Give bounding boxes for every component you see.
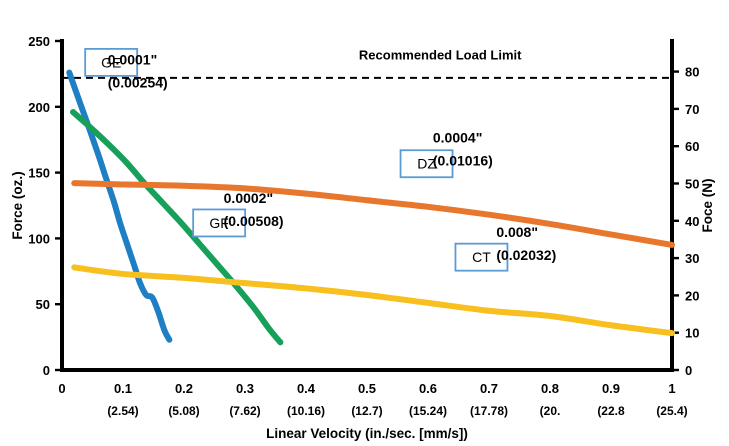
- recommended-load-limit-label: Recommended Load Limit: [359, 47, 522, 62]
- x-axis-tick-label: 0: [58, 381, 65, 396]
- x-axis-tick-sublabel: (17.78): [470, 404, 508, 418]
- y2-axis-tick-label: 20: [685, 288, 699, 303]
- x-axis-tick-label: 0.5: [358, 381, 376, 396]
- x-axis-tick-label: 0.9: [602, 381, 620, 396]
- x-axis-tick-label: 0.2: [175, 381, 193, 396]
- y2-axis-tick-label: 70: [685, 102, 699, 117]
- y-axis-tick-label: 0: [43, 363, 50, 378]
- series-thickness-in-dz: 0.0004": [433, 129, 482, 145]
- chart-figure: 0501001502002500102030405060708000.1(2.5…: [0, 0, 729, 446]
- series-thickness-in-ge: 0.0001": [108, 52, 157, 68]
- x-axis-tick-sublabel: (22.8: [597, 404, 625, 418]
- x-axis-tick-sublabel: (20.: [540, 404, 561, 418]
- series-thickness-in-gf: 0.0002": [224, 190, 273, 206]
- x-axis-tick-label: 0.7: [480, 381, 498, 396]
- y2-axis-tick-label: 0: [685, 363, 692, 378]
- x-axis-tick-sublabel: (2.54): [107, 404, 138, 418]
- x-axis-tick-sublabel: (15.24): [409, 404, 447, 418]
- series-thickness-mm-gf: (0.00508): [224, 213, 284, 229]
- series-thickness-mm-ge: (0.00254): [108, 75, 168, 91]
- series-thickness-mm-ct: (0.02032): [496, 247, 556, 263]
- y-axis-tick-label: 100: [28, 231, 50, 246]
- y2-axis-tick-label: 50: [685, 176, 699, 191]
- series-thickness-mm-dz: (0.01016): [433, 152, 493, 168]
- x-axis-tick-label: 0.6: [419, 381, 437, 396]
- series-line-dz: [74, 183, 672, 245]
- x-axis-tick-sublabel: (7.62): [229, 404, 260, 418]
- x-axis-tick-sublabel: (5.08): [168, 404, 199, 418]
- y2-axis-tick-label: 10: [685, 326, 699, 341]
- y2-axis-tick-label: 80: [685, 65, 699, 80]
- x-axis-tick-sublabel: (10.16): [287, 404, 325, 418]
- x-axis-tick-label: 0.4: [297, 381, 316, 396]
- y-axis-title: Force (oz.): [10, 171, 25, 239]
- y-axis-tick-label: 250: [28, 34, 50, 49]
- x-axis-tick-label: 0.1: [114, 381, 132, 396]
- series-label-ct: CT: [472, 249, 491, 265]
- y-axis-tick-label: 50: [36, 297, 50, 312]
- x-axis-tick-sublabel: (25.4): [656, 404, 687, 418]
- y2-axis-tick-label: 30: [685, 251, 699, 266]
- x-axis-tick-sublabel: (12.7): [351, 404, 382, 418]
- y-axis-tick-label: 150: [28, 166, 50, 181]
- series-line-ge: [69, 73, 169, 340]
- x-axis-tick-label: 1: [668, 381, 675, 396]
- y2-axis-title: Foce (N): [700, 179, 715, 233]
- x-axis-tick-label: 0.3: [236, 381, 254, 396]
- series-thickness-in-ct: 0.008": [496, 224, 538, 240]
- x-axis-title: Linear Velocity (in./sec. [mm/s]): [266, 426, 468, 441]
- force-vs-velocity-line-chart: 0501001502002500102030405060708000.1(2.5…: [0, 0, 729, 446]
- y-axis-tick-label: 200: [28, 100, 50, 115]
- x-axis-tick-label: 0.8: [541, 381, 559, 396]
- y2-axis-tick-label: 40: [685, 214, 699, 229]
- y2-axis-tick-label: 60: [685, 139, 699, 154]
